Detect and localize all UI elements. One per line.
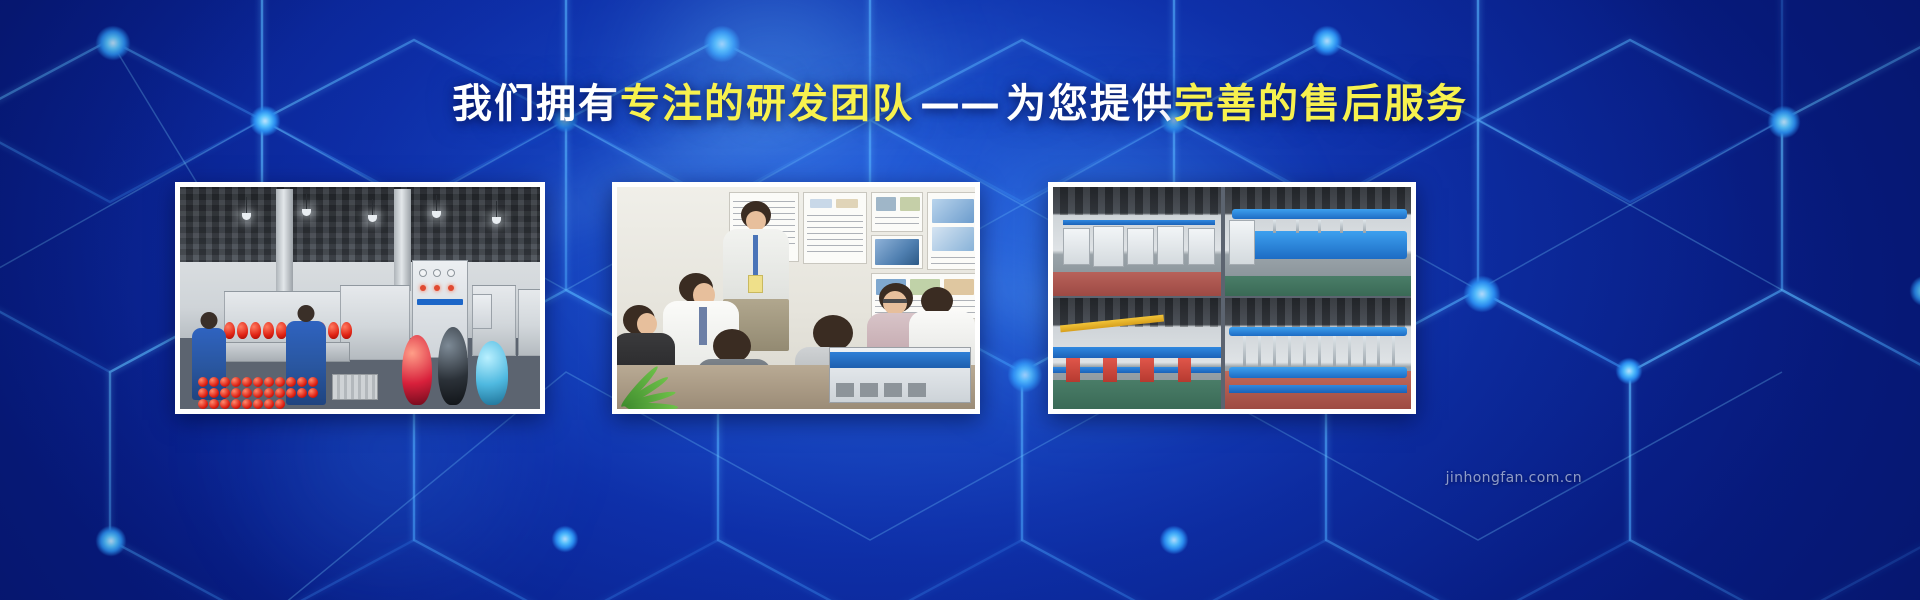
conveyor-belt xyxy=(218,342,350,362)
diagram-poster xyxy=(927,192,975,270)
photo-3-image xyxy=(1053,187,1411,409)
lanyard xyxy=(753,235,758,277)
certificate-poster xyxy=(871,192,923,232)
factory-roof xyxy=(180,187,540,271)
person-face xyxy=(883,291,907,315)
person-face xyxy=(637,313,657,335)
collage-panel-workshop xyxy=(1053,187,1221,296)
eyeglasses xyxy=(883,299,907,303)
storage-crate xyxy=(332,374,378,400)
id-badge xyxy=(748,275,763,293)
notice-board xyxy=(472,294,492,330)
technical-poster xyxy=(803,192,867,264)
headline: 我们拥有专注的研发团队——为您提供完善的售后服务 xyxy=(0,78,1920,130)
photo-production-facility-collage[interactable] xyxy=(1048,182,1416,414)
product-vase-black xyxy=(438,327,468,405)
photo-engineering-team-meeting[interactable] xyxy=(612,182,980,414)
person-head xyxy=(813,315,853,351)
person-head xyxy=(713,329,751,363)
machine-model xyxy=(829,347,971,403)
headline-segment-2-highlight: 专注的研发团队 xyxy=(620,81,914,127)
necktie xyxy=(699,307,707,345)
headline-segment-1: 我们拥有 xyxy=(452,81,620,127)
collage-panel-conveyor-line xyxy=(1053,298,1221,409)
support-column xyxy=(394,189,411,291)
person-face xyxy=(746,211,766,231)
machine-cabinet xyxy=(518,289,540,356)
support-column xyxy=(276,189,293,304)
headline-dash: —— xyxy=(914,81,1006,127)
product-vase-blue xyxy=(476,341,508,405)
collage-panel-hanging-rack xyxy=(1225,298,1411,409)
photo-factory-production-line[interactable] xyxy=(175,182,545,414)
product-vase-red xyxy=(402,335,432,405)
photo-row xyxy=(0,182,1920,414)
collage-panel-tunnel-oven xyxy=(1225,187,1411,296)
promo-banner: 我们拥有专注的研发团队——为您提供完善的售后服务 xyxy=(0,0,1920,600)
site-watermark: jinhongfan.com.cn xyxy=(1446,470,1582,486)
red-product-pile xyxy=(198,377,318,409)
photo-2-image xyxy=(617,187,975,409)
headline-segment-3: 为您提供 xyxy=(1006,81,1174,127)
photo-1-image xyxy=(180,187,540,409)
headline-segment-4-highlight: 完善的售后服务 xyxy=(1174,81,1468,127)
photo-poster xyxy=(871,235,923,269)
